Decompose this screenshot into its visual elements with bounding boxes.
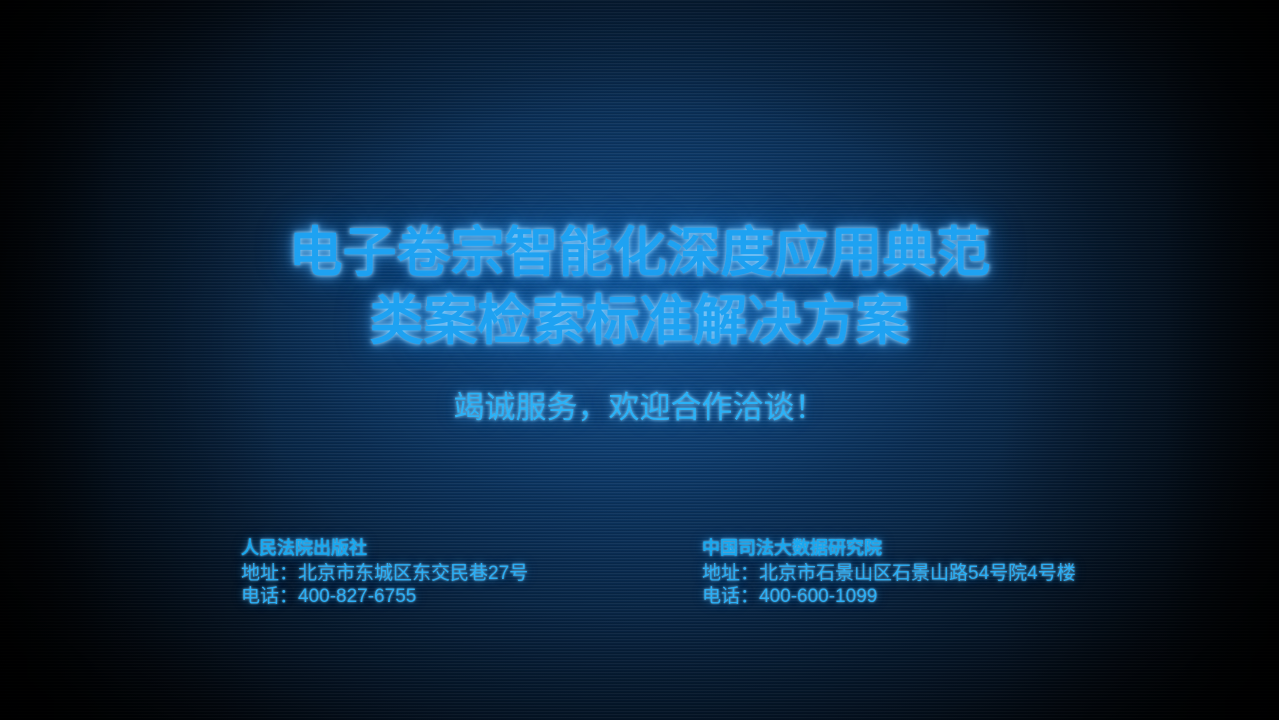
slide-subtitle: 竭诚服务，欢迎合作洽谈！: [0, 388, 1279, 428]
organization-name: 人民法院出版社: [241, 537, 528, 560]
contact-block-publisher: 人民法院出版社 地址：北京市东城区东交民巷27号 电话：400-827-6755: [241, 537, 528, 608]
slide-content: 电子卷宗智能化深度应用典范 类案检索标准解决方案 竭诚服务，欢迎合作洽谈！ 人民…: [0, 0, 1279, 720]
title-line-2: 类案检索标准解决方案: [0, 287, 1279, 355]
presentation-slide: 电子卷宗智能化深度应用典范 类案检索标准解决方案 竭诚服务，欢迎合作洽谈！ 人民…: [0, 0, 1279, 720]
organization-name: 中国司法大数据研究院: [702, 537, 1076, 560]
organization-address: 地址：北京市石景山区石景山路54号院4号楼: [702, 562, 1076, 585]
slide-title: 电子卷宗智能化深度应用典范 类案检索标准解决方案: [0, 219, 1279, 355]
organization-phone: 电话：400-827-6755: [241, 585, 528, 608]
organization-address: 地址：北京市东城区东交民巷27号: [241, 562, 528, 585]
title-line-1: 电子卷宗智能化深度应用典范: [0, 219, 1279, 287]
contact-block-institute: 中国司法大数据研究院 地址：北京市石景山区石景山路54号院4号楼 电话：400-…: [702, 537, 1076, 608]
organization-phone: 电话：400-600-1099: [702, 585, 1076, 608]
